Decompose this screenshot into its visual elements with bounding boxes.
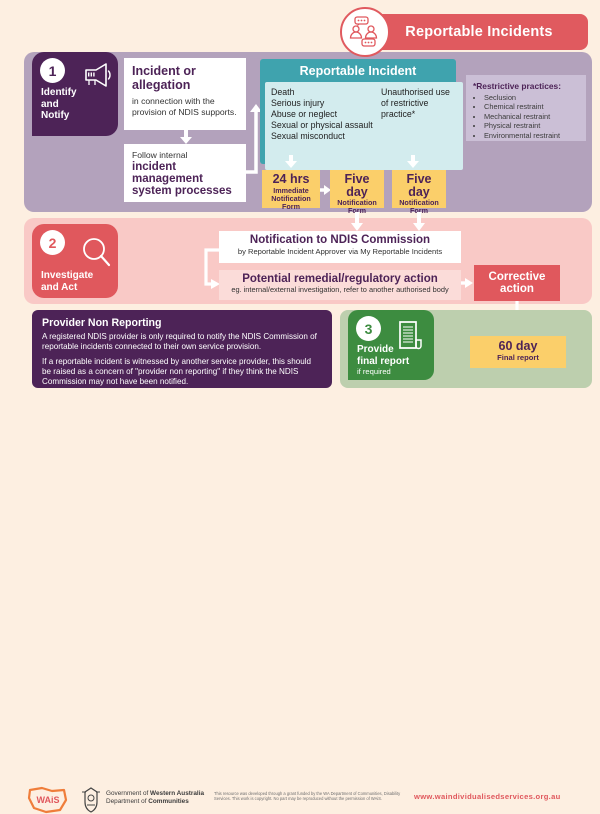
step3-label-line2: final report bbox=[357, 356, 409, 367]
header-icon-circle bbox=[340, 7, 390, 57]
gov-line1-strong: Western Australia bbox=[150, 790, 204, 797]
people-speech-bubbles-icon bbox=[347, 15, 383, 49]
step1-number: 1 bbox=[40, 58, 65, 83]
rp-item-chemical: Chemical restraint bbox=[484, 102, 579, 111]
ri-item-serious-injury: Serious injury bbox=[271, 98, 375, 109]
follow-line2: management bbox=[132, 173, 203, 185]
remedial-regulatory-action-box: Potential remedial/regulatory action eg.… bbox=[219, 270, 461, 300]
gov-line-1: Government of Western Australia bbox=[106, 790, 211, 798]
final-report-box: 60 day Final report bbox=[470, 336, 566, 368]
gov-line2-plain: Department of bbox=[106, 798, 148, 805]
follow-line3: system processes bbox=[132, 185, 232, 197]
notification-ndis-commission-box: Notification to NDIS Commission by Repor… bbox=[219, 231, 461, 263]
step1-label-line3: Notify bbox=[41, 110, 69, 121]
final-report-title: 60 day bbox=[470, 340, 566, 353]
ri-item-assault: Sexual or physical assault bbox=[271, 120, 375, 131]
government-department-text: Government of Western Australia Departme… bbox=[106, 790, 211, 806]
step3-number: 3 bbox=[356, 316, 381, 341]
infographic-canvas: 1 Identify and Notify Incident or allega… bbox=[0, 0, 600, 425]
reportable-incident-title: Reportable Incident bbox=[263, 62, 453, 82]
notification-ndis-title: Notification to NDIS Commission bbox=[219, 234, 461, 247]
final-report-subtitle: Final report bbox=[470, 353, 566, 362]
remedial-subtitle: eg. internal/external investigation, ref… bbox=[219, 285, 461, 294]
restrictive-practices-title: *Restrictive practices: bbox=[473, 81, 579, 91]
gov-line-2: Department of Communities bbox=[106, 798, 211, 806]
follow-internal-process-box: Follow internal incident management syst… bbox=[124, 144, 246, 202]
step2-box: 2 Investigate and Act bbox=[32, 224, 118, 298]
step3-label-line1: Provide bbox=[357, 344, 394, 355]
provider-non-reporting-paragraph-1: A registered NDIS provider is only requi… bbox=[42, 332, 322, 352]
copyright-disclaimer: This resource was developed through a gr… bbox=[214, 791, 404, 801]
step3-label: Provide final report bbox=[357, 344, 409, 367]
follow-strong-text: incident management system processes bbox=[132, 161, 238, 197]
rp-item-mechanical: Mechanical restraint bbox=[484, 112, 579, 121]
step2-label-line1: Investigate bbox=[41, 270, 93, 281]
provider-non-reporting-paragraph-2: If a reportable incident is witnessed by… bbox=[42, 357, 322, 387]
step3-sublabel: if required bbox=[357, 367, 391, 376]
remedial-title: Potential remedial/regulatory action bbox=[219, 273, 461, 285]
arrow-to-24hrs bbox=[283, 155, 299, 170]
svg-text:WAiS: WAiS bbox=[36, 795, 59, 805]
step3-box: 3 Provide final report if required bbox=[348, 310, 434, 380]
step2-label-line2: and Act bbox=[41, 282, 77, 293]
notification-24hrs-sub: Immediate Notification Form bbox=[262, 187, 320, 212]
wais-logo: WAiS bbox=[26, 786, 70, 814]
reportable-incident-box: Reportable Incident Death Serious injury… bbox=[260, 59, 456, 164]
notification-five-day-title-2: Five day bbox=[392, 173, 446, 198]
step1-label: Identify and Notify bbox=[41, 87, 77, 122]
corrective-line1: Corrective bbox=[489, 271, 546, 283]
incident-title: Incident or allegation bbox=[132, 65, 238, 92]
magnifying-glass-icon bbox=[80, 236, 112, 268]
n5b-title-line2: day bbox=[408, 185, 430, 199]
rp-item-seclusion: Seclusion bbox=[484, 93, 579, 102]
notification-24hrs-title: 24 hrs bbox=[262, 173, 320, 186]
incident-title-line1: Incident or bbox=[132, 64, 196, 78]
incident-title-line2: allegation bbox=[132, 78, 190, 92]
megaphone-icon bbox=[84, 62, 114, 88]
step1-label-line1: Identify bbox=[41, 87, 77, 98]
incident-allegation-box: Incident or allegation in connection wit… bbox=[124, 58, 246, 130]
notification-ndis-subtitle: by Reportable Incident Approver via My R… bbox=[219, 247, 461, 256]
incident-subtitle: in connection with the provision of NDIS… bbox=[132, 96, 238, 117]
arrow-remedial-to-corrective bbox=[461, 277, 475, 289]
arrow-to-five-day-b bbox=[405, 155, 421, 170]
follow-lead-text: Follow internal bbox=[132, 150, 238, 160]
website-url[interactable]: www.waindividualisedservices.org.au bbox=[414, 792, 561, 801]
corrective-line2: action bbox=[500, 283, 534, 295]
rp-item-physical: Physical restraint bbox=[484, 121, 579, 130]
step2-label: Investigate and Act bbox=[41, 270, 93, 293]
ri-item-sexual-misconduct: Sexual misconduct bbox=[271, 131, 375, 142]
rp-item-environmental: Environmental restraint bbox=[484, 131, 579, 140]
ri-item-death: Death bbox=[271, 87, 375, 98]
provider-non-reporting-title: Provider Non Reporting bbox=[42, 317, 322, 329]
ri-item-abuse-neglect: Abuse or neglect bbox=[271, 109, 375, 120]
footer: WAiS Government of Western Australia Dep… bbox=[0, 392, 600, 425]
gov-line1-plain: Government of bbox=[106, 790, 150, 797]
follow-line1: incident bbox=[132, 161, 176, 173]
n24-sub-line3: Form bbox=[282, 202, 300, 211]
notification-five-day-box-1: Five day Notification Form bbox=[330, 170, 384, 208]
gov-line2-strong: Communities bbox=[148, 798, 188, 805]
n5a-title-line2: day bbox=[346, 185, 368, 199]
restrictive-practices-list: Seclusion Chemical restraint Mechanical … bbox=[473, 93, 579, 140]
notification-24hrs-box: 24 hrs Immediate Notification Form bbox=[262, 170, 320, 208]
restrictive-practices-box: *Restrictive practices: Seclusion Chemic… bbox=[466, 75, 586, 141]
notification-five-day-title-1: Five day bbox=[330, 173, 384, 198]
corrective-action-box: Corrective action bbox=[474, 265, 560, 301]
page-title: Reportable Incidents bbox=[405, 24, 552, 40]
notification-five-day-box-2: Five day Notification Form bbox=[392, 170, 446, 208]
provider-non-reporting-box: Provider Non Reporting A registered NDIS… bbox=[32, 310, 332, 388]
step1-box: 1 Identify and Notify bbox=[32, 52, 118, 136]
step2-number: 2 bbox=[40, 230, 65, 255]
corrective-action-text: Corrective action bbox=[489, 271, 546, 296]
step1-label-line2: and bbox=[41, 99, 59, 110]
wa-government-crest-icon bbox=[80, 787, 102, 813]
